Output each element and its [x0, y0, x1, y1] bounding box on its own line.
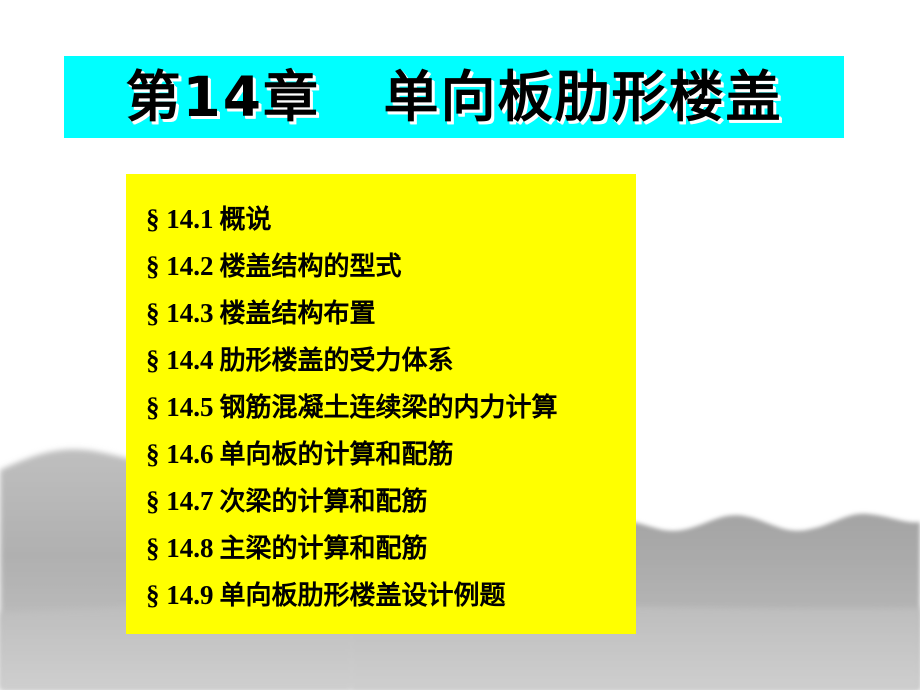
toc-item-14-8[interactable]: § 14.8主梁的计算和配筋: [146, 525, 636, 572]
chapter-title: 第14章 单向板肋形楼盖: [126, 70, 783, 125]
toc-item-14-1[interactable]: § 14.1概说: [146, 196, 636, 243]
toc-number: § 14.9: [146, 580, 214, 610]
toc-label: 楼盖结构的型式: [220, 252, 402, 282]
toc-number: § 14.8: [146, 533, 214, 563]
toc-number: § 14.4: [146, 345, 214, 375]
toc-number: § 14.5: [146, 392, 214, 422]
toc-number: § 14.6: [146, 439, 214, 469]
toc-label: 单向板的计算和配筋: [220, 440, 454, 470]
toc-number: § 14.3: [146, 298, 214, 328]
toc-label: 次梁的计算和配筋: [220, 487, 428, 517]
toc-number: § 14.1: [146, 204, 214, 234]
toc-item-14-6[interactable]: § 14.6单向板的计算和配筋: [146, 431, 636, 478]
toc-item-14-9[interactable]: § 14.9单向板肋形楼盖设计例题: [146, 572, 636, 619]
toc-label: 概说: [220, 205, 272, 235]
toc-item-14-7[interactable]: § 14.7次梁的计算和配筋: [146, 478, 636, 525]
slide-title-banner: 第14章 单向板肋形楼盖: [64, 56, 844, 138]
table-of-contents-box: § 14.1概说 § 14.2楼盖结构的型式 § 14.3楼盖结构布置 § 14…: [126, 174, 636, 634]
toc-label: 单向板肋形楼盖设计例题: [220, 581, 506, 611]
toc-label: 肋形楼盖的受力体系: [220, 346, 454, 376]
toc-label: 钢筋混凝土连续梁的内力计算: [220, 393, 558, 423]
toc-item-14-5[interactable]: § 14.5钢筋混凝土连续梁的内力计算: [146, 384, 636, 431]
toc-item-14-4[interactable]: § 14.4肋形楼盖的受力体系: [146, 337, 636, 384]
toc-label: 楼盖结构布置: [220, 299, 376, 329]
toc-label: 主梁的计算和配筋: [220, 534, 428, 564]
toc-item-14-2[interactable]: § 14.2楼盖结构的型式: [146, 243, 636, 290]
toc-number: § 14.7: [146, 486, 214, 516]
toc-number: § 14.2: [146, 251, 214, 281]
presentation-slide: 第14章 单向板肋形楼盖 § 14.1概说 § 14.2楼盖结构的型式 § 14…: [0, 0, 920, 690]
toc-item-14-3[interactable]: § 14.3楼盖结构布置: [146, 290, 636, 337]
